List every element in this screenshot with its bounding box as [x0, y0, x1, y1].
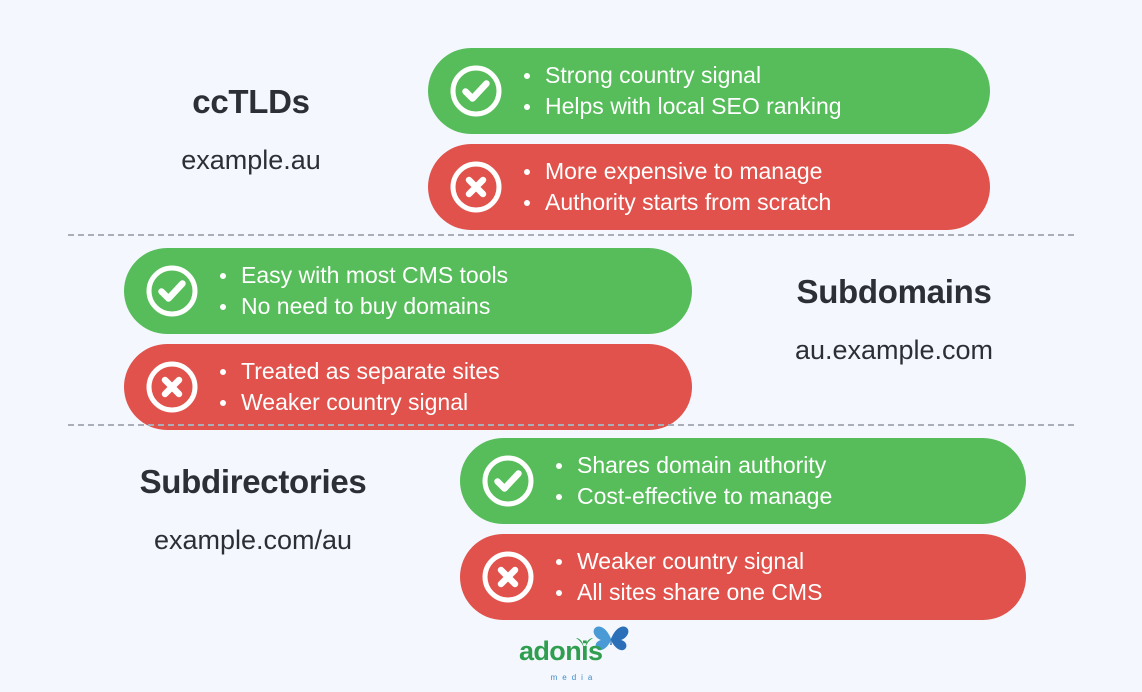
- cons-list-subdomains: Treated as separate sites Weaker country…: [216, 356, 500, 418]
- pros-list-subdomains: Easy with most CMS tools No need to buy …: [216, 260, 508, 322]
- infographic-canvas: ccTLDs example.au Strong country signal …: [0, 0, 1142, 692]
- section-subdirectories: Subdirectories example.com/au Shares dom…: [0, 438, 1142, 606]
- cons-pill-subdomains: Treated as separate sites Weaker country…: [124, 344, 692, 430]
- pros-pill-subdomains: Easy with most CMS tools No need to buy …: [124, 248, 692, 334]
- list-item: Easy with most CMS tools: [216, 260, 508, 291]
- section-example-domain: example.au: [181, 146, 321, 176]
- pills-group-subdirectories: Shares domain authority Cost-effective t…: [460, 438, 1026, 620]
- pros-pill-cctlds: Strong country signal Helps with local S…: [428, 48, 990, 134]
- cons-pill-cctlds: More expensive to manage Authority start…: [428, 144, 990, 230]
- list-item: Strong country signal: [520, 60, 842, 91]
- cons-list-subdirectories: Weaker country signal All sites share on…: [552, 546, 822, 608]
- pros-list-subdirectories: Shares domain authority Cost-effective t…: [552, 450, 832, 512]
- list-item: More expensive to manage: [520, 156, 831, 187]
- section-divider-2: [68, 424, 1074, 426]
- section-subdomains: Easy with most CMS tools No need to buy …: [0, 248, 1142, 416]
- cons-pill-subdirectories: Weaker country signal All sites share on…: [460, 534, 1026, 620]
- list-item: Weaker country signal: [552, 546, 822, 577]
- list-item: No need to buy domains: [216, 291, 508, 322]
- list-item: Cost-effective to manage: [552, 481, 832, 512]
- section-label-subdirectories: Subdirectories example.com/au: [118, 464, 388, 556]
- check-circle-icon: [480, 453, 536, 509]
- x-circle-icon: [448, 159, 504, 215]
- section-divider-1: [68, 234, 1074, 236]
- check-circle-icon: [448, 63, 504, 119]
- check-circle-icon: [144, 263, 200, 319]
- page-title: Subdirectories: [140, 464, 367, 500]
- section-example-domain: au.example.com: [795, 336, 993, 366]
- pills-group-cctlds: Strong country signal Helps with local S…: [428, 48, 990, 230]
- x-circle-icon: [480, 549, 536, 605]
- logo-mark: adonis: [513, 626, 629, 676]
- page-title: Subdomains: [796, 274, 991, 310]
- section-cctlds: ccTLDs example.au Strong country signal …: [0, 34, 1142, 224]
- section-example-domain: example.com/au: [154, 526, 352, 556]
- brand-logo: adonis media: [0, 626, 1142, 682]
- list-item: All sites share one CMS: [552, 577, 822, 608]
- list-item: Authority starts from scratch: [520, 187, 831, 218]
- list-item: Treated as separate sites: [216, 356, 500, 387]
- cons-list-cctlds: More expensive to manage Authority start…: [520, 156, 831, 218]
- list-item: Shares domain authority: [552, 450, 832, 481]
- x-circle-icon: [144, 359, 200, 415]
- section-label-cctlds: ccTLDs example.au: [148, 84, 354, 176]
- pills-group-subdomains: Easy with most CMS tools No need to buy …: [124, 248, 692, 430]
- list-item: Weaker country signal: [216, 387, 500, 418]
- leaf-icon: [573, 632, 595, 652]
- list-item: Helps with local SEO ranking: [520, 91, 842, 122]
- section-label-subdomains: Subdomains au.example.com: [760, 274, 1028, 366]
- page-title: ccTLDs: [192, 84, 309, 120]
- pros-pill-subdirectories: Shares domain authority Cost-effective t…: [460, 438, 1026, 524]
- pros-list-cctlds: Strong country signal Helps with local S…: [520, 60, 842, 122]
